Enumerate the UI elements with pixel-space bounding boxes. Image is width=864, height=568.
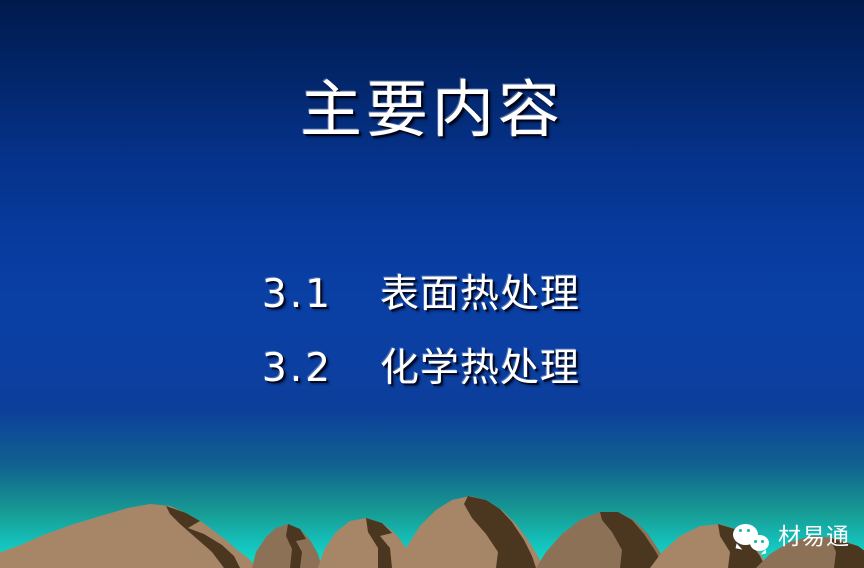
slide-title: 主要内容 — [0, 73, 864, 147]
mountain-ridge-left — [0, 504, 258, 568]
list-item-number: 3.1 — [262, 258, 380, 332]
mountain-notch-a-shadow — [286, 524, 306, 568]
bubble-eye-dot — [754, 540, 757, 543]
bubble-eye-dot — [761, 540, 764, 543]
watermark-label: 材易通 — [778, 522, 850, 552]
contents-list: 3.1 表面热处理 3.2 化学热处理 — [262, 258, 682, 406]
list-item-number: 3.2 — [262, 332, 380, 406]
watermark: 材易通 — [733, 522, 850, 552]
mountain-shadow-center — [464, 496, 536, 568]
mountain-shadow-right-a — [600, 512, 664, 568]
mountain-ridge-center — [398, 496, 544, 568]
presentation-slide: 主要内容 3.1 表面热处理 3.2 化学热处理 材易通 — [0, 0, 864, 568]
mountain-notch-b — [318, 518, 412, 568]
list-item-label: 表面热处理 — [380, 258, 580, 332]
wechat-logo-icon — [733, 522, 769, 552]
speech-bubble-small — [750, 535, 769, 551]
mountain-ridge-right-a — [536, 512, 668, 568]
mountain-notch-a — [252, 524, 322, 568]
list-item-label: 化学热处理 — [380, 332, 580, 406]
mountain-shadow-left — [166, 506, 240, 568]
list-item: 3.2 化学热处理 — [262, 332, 682, 406]
mountain-notch-b-shadow — [366, 518, 392, 568]
list-item: 3.1 表面热处理 — [262, 258, 682, 332]
